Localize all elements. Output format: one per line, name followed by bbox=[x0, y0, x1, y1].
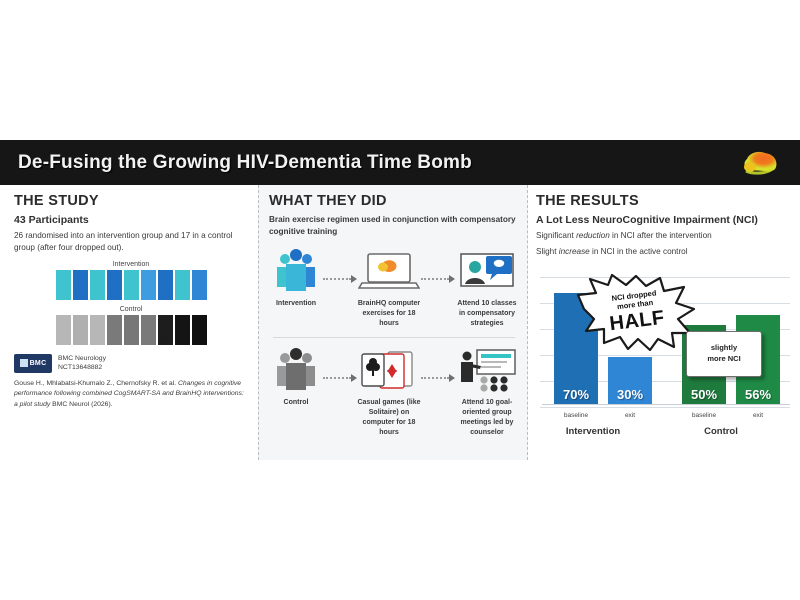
chart-bar-value: 50% bbox=[691, 387, 717, 405]
infographic-body: THE STUDY 43 Participants 26 randomised … bbox=[0, 185, 800, 460]
title-bar: De-Fusing the Growing HIV-Dementia Time … bbox=[0, 140, 800, 185]
person-icon bbox=[107, 270, 122, 300]
results-bar-chart: 70%30%50%56% NCI dropped more than HALF … bbox=[536, 267, 794, 445]
citation-registry: NCT13648882 bbox=[58, 363, 106, 373]
method-row-control: Control Casual games (l bbox=[269, 346, 519, 439]
chart-tick-label: baseline bbox=[554, 412, 598, 419]
intervention-group-label: Intervention bbox=[14, 261, 248, 268]
bmc-logo-text: BMC bbox=[30, 360, 47, 367]
person-icon bbox=[158, 315, 173, 345]
person-icon bbox=[175, 315, 190, 345]
results-point-2: Slight increase in NCI in the active con… bbox=[536, 246, 790, 258]
flow-arrow bbox=[323, 374, 357, 382]
method-group-label-control: Control bbox=[269, 398, 323, 408]
citation-source: BMC Neurol (2026). bbox=[52, 401, 112, 408]
playing-cards-icon bbox=[358, 348, 420, 392]
person-icon bbox=[192, 315, 207, 345]
study-description: 26 randomised into an intervention group… bbox=[14, 230, 248, 255]
method-group-control: Control bbox=[269, 346, 323, 408]
flow-arrow bbox=[421, 275, 455, 283]
chart-group-label: Intervention bbox=[538, 426, 648, 437]
classroom-video-icon bbox=[458, 250, 516, 292]
person-icon bbox=[56, 315, 71, 345]
chart-group-label: Control bbox=[666, 426, 776, 437]
person-icon bbox=[107, 315, 122, 345]
bmc-square-icon bbox=[20, 359, 28, 367]
person-icon bbox=[158, 270, 173, 300]
intervention-people-row bbox=[14, 270, 248, 300]
method-heading: WHAT THEY DID bbox=[269, 193, 519, 209]
citation-block: BMC BMC Neurology NCT13648882 Gouse H., … bbox=[14, 354, 248, 410]
callout-line-1: slightly bbox=[711, 343, 737, 354]
chart-axis bbox=[542, 404, 790, 405]
method-group-label-intervention: Intervention bbox=[269, 299, 323, 309]
control-people-row bbox=[14, 315, 248, 345]
person-icon bbox=[124, 270, 139, 300]
flow-arrow bbox=[323, 275, 357, 283]
person-icon bbox=[73, 315, 88, 345]
method-description: Brain exercise regimen used in conjuncti… bbox=[269, 214, 519, 239]
method-divider bbox=[273, 337, 515, 338]
study-participants: 43 Participants bbox=[14, 214, 248, 226]
citation-authors: Gouse H., Mhlabatsi-Khumalo Z., Chernofs… bbox=[14, 380, 176, 387]
control-group-label: Control bbox=[14, 306, 248, 313]
method-step-casual-games: Casual games (like Solitaire) on compute… bbox=[357, 346, 421, 439]
method-group-intervention: Intervention bbox=[269, 247, 323, 309]
flow-arrow bbox=[421, 374, 455, 382]
infographic-canvas: De-Fusing the Growing HIV-Dementia Time … bbox=[0, 0, 800, 600]
method-step-caption: Casual games (like Solitaire) on compute… bbox=[357, 398, 421, 439]
chart-gridline bbox=[540, 407, 790, 408]
page-title: De-Fusing the Growing HIV-Dementia Time … bbox=[18, 152, 472, 174]
brain-icon bbox=[738, 148, 782, 176]
chart-bar-value: 30% bbox=[617, 387, 643, 405]
callout-half-burst: NCI dropped more than HALF bbox=[576, 273, 696, 351]
method-step-caption: Attend 10 classes in compensatory strate… bbox=[455, 299, 519, 329]
person-icon bbox=[90, 270, 105, 300]
people-group-icon bbox=[269, 249, 323, 293]
people-group-icon bbox=[269, 348, 323, 392]
bmc-logo-icon: BMC bbox=[14, 354, 52, 373]
citation-journal: BMC Neurology bbox=[58, 354, 106, 364]
chart-bar-value: 56% bbox=[745, 387, 771, 405]
results-point-1: Significant reduction in NCI after the i… bbox=[536, 230, 790, 242]
person-icon bbox=[175, 270, 190, 300]
person-icon bbox=[56, 270, 71, 300]
laptop-brain-icon bbox=[358, 250, 420, 292]
method-step-caption: BrainHQ computer exercises for 18 hours bbox=[357, 299, 421, 329]
callout-line-2: more NCI bbox=[707, 354, 740, 365]
person-icon bbox=[90, 315, 105, 345]
callout-more-nci: slightly more NCI bbox=[686, 331, 762, 377]
method-row-intervention: Intervention BrainHQ computer exercises … bbox=[269, 247, 519, 329]
method-step-caption: Attend 10 goal-oriented group meetings l… bbox=[455, 398, 519, 439]
results-lede: A Lot Less NeuroCognitive Impairment (NC… bbox=[536, 214, 790, 226]
person-icon bbox=[124, 315, 139, 345]
chart-bar: 30% bbox=[608, 357, 652, 405]
column-the-results: THE RESULTS A Lot Less NeuroCognitive Im… bbox=[528, 185, 800, 460]
method-step-classes: Attend 10 classes in compensatory strate… bbox=[455, 247, 519, 329]
column-what-they-did: WHAT THEY DID Brain exercise regimen use… bbox=[258, 185, 528, 460]
chart-tick-label: exit bbox=[608, 412, 652, 419]
column-the-study: THE STUDY 43 Participants 26 randomised … bbox=[0, 185, 258, 460]
method-step-group-meetings: Attend 10 goal-oriented group meetings l… bbox=[455, 346, 519, 439]
presenter-board-icon bbox=[457, 348, 517, 392]
results-heading: THE RESULTS bbox=[536, 193, 790, 209]
person-icon bbox=[73, 270, 88, 300]
method-step-brainhq: BrainHQ computer exercises for 18 hours bbox=[357, 247, 421, 329]
person-icon bbox=[192, 270, 207, 300]
study-heading: THE STUDY bbox=[14, 193, 248, 209]
chart-tick-label: exit bbox=[736, 412, 780, 419]
chart-bar-value: 70% bbox=[563, 387, 589, 405]
chart-tick-label: baseline bbox=[682, 412, 726, 419]
person-icon bbox=[141, 270, 156, 300]
person-icon bbox=[141, 315, 156, 345]
